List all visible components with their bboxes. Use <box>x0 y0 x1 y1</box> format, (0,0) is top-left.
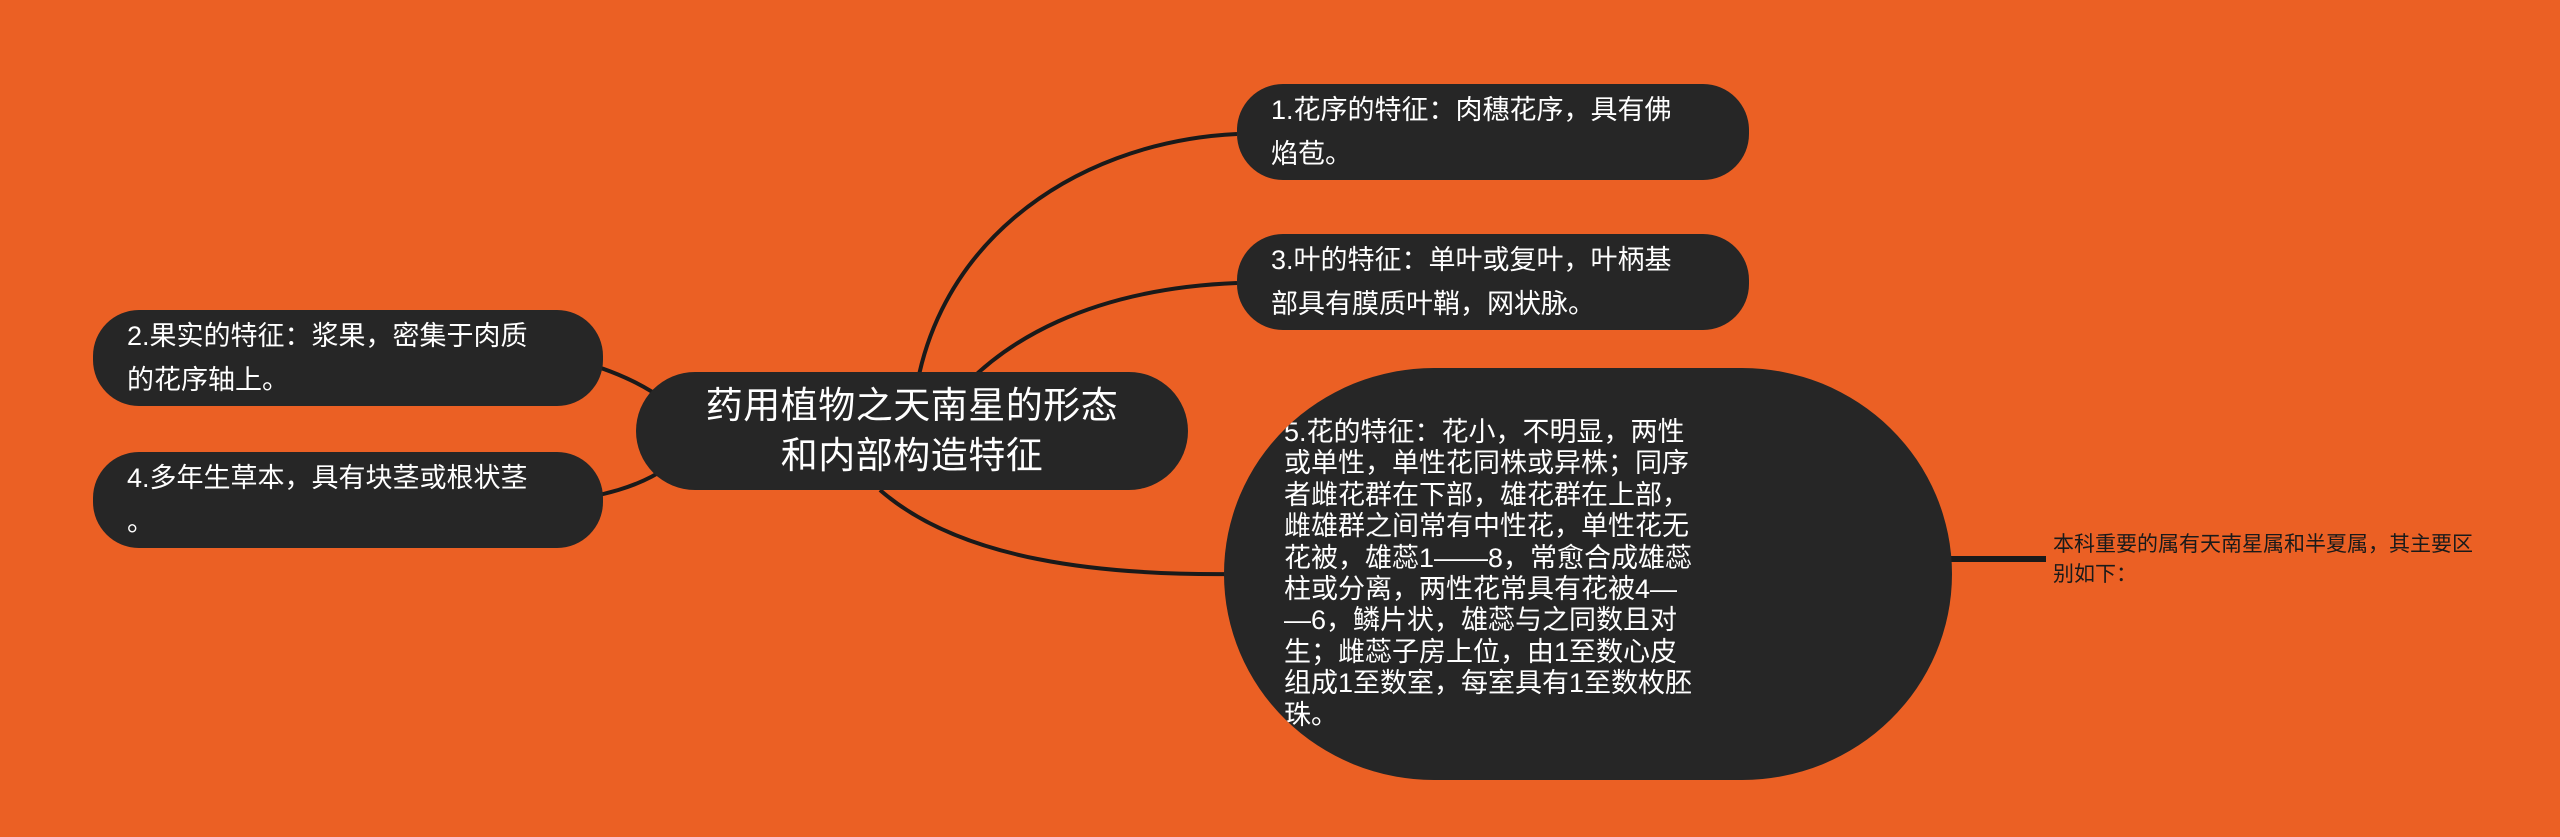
branch-node-4-label: 4.多年生草本，具有块茎或根状茎 。 <box>127 456 569 544</box>
mindmap-canvas: 药用植物之天南星的形态 和内部构造特征 1.花序的特征：肉穗花序，具有佛 焰苞。… <box>0 0 2560 837</box>
branch-node-3-label: 3.叶的特征：单叶或复叶，叶柄基 部具有膜质叶鞘，网状脉。 <box>1271 238 1715 326</box>
tail-note: 本科重要的属有天南星属和半夏属，其主要区 别如下： <box>2053 530 2523 590</box>
branch-node-2-label: 2.果实的特征：浆果，密集于肉质 的花序轴上。 <box>127 314 569 402</box>
branch-node-1-label: 1.花序的特征：肉穗花序，具有佛 焰苞。 <box>1271 88 1715 176</box>
branch-node-4[interactable]: 4.多年生草本，具有块茎或根状茎 。 <box>93 452 603 548</box>
root-node-label: 药用植物之天南星的形态 和内部构造特征 <box>636 381 1188 481</box>
branch-node-5[interactable]: 5.花的特征：花小，不明显，两性 或单性，单性花同株或异株；同序 者雌花群在下部… <box>1224 368 1952 780</box>
branch-node-2[interactable]: 2.果实的特征：浆果，密集于肉质 的花序轴上。 <box>93 310 603 406</box>
branch-node-1[interactable]: 1.花序的特征：肉穗花序，具有佛 焰苞。 <box>1237 84 1749 180</box>
edge-root-to-node-5 <box>880 490 1240 574</box>
root-node[interactable]: 药用植物之天南星的形态 和内部构造特征 <box>636 372 1188 490</box>
branch-node-5-label: 5.花的特征：花小，不明显，两性 或单性，单性花同株或异株；同序 者雌花群在下部… <box>1284 417 1892 731</box>
branch-node-3[interactable]: 3.叶的特征：单叶或复叶，叶柄基 部具有膜质叶鞘，网状脉。 <box>1237 234 1749 330</box>
